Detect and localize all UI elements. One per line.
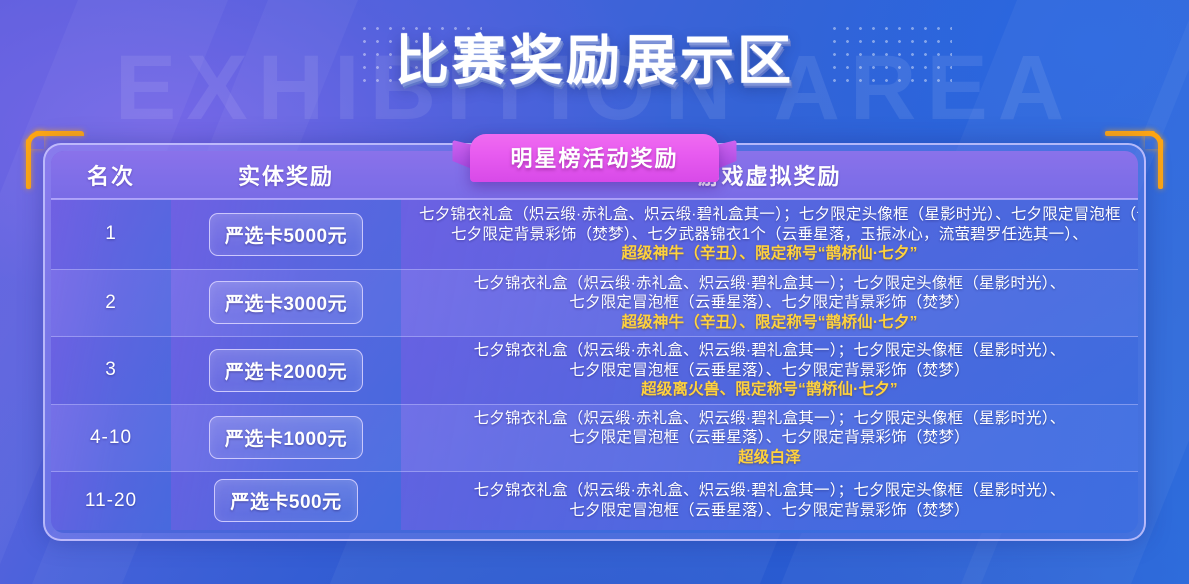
virtual-reward-highlight-line: 超级离火兽、限定称号“鹊桥仙·七夕” (419, 380, 1120, 400)
table-row: 1严选卡5000元七夕锦衣礼盒（炽云缎·赤礼盒、炽云缎·碧礼盒其一）；七夕限定头… (51, 199, 1138, 269)
badge-container: 明星榜活动奖励 (0, 134, 1189, 182)
reward-panel-inner: 名次 实体奖励 游戏虚拟奖励 1严选卡5000元七夕锦衣礼盒（炽云缎·赤礼盒、炽… (51, 151, 1138, 533)
rank-cell: 3 (51, 337, 171, 405)
virtual-reward-line: 七夕锦衣礼盒（炽云缎·赤礼盒、炽云缎·碧礼盒其一）；七夕限定头像框（星影时光）、 (419, 274, 1120, 294)
reward-table-body: 1严选卡5000元七夕锦衣礼盒（炽云缎·赤礼盒、炽云缎·碧礼盒其一）；七夕限定头… (51, 199, 1138, 530)
physical-reward-pill[interactable]: 严选卡3000元 (209, 281, 363, 324)
virtual-reward-cell: 七夕锦衣礼盒（炽云缎·赤礼盒、炽云缎·碧礼盒其一）；七夕限定头像框（星影时光）、… (401, 337, 1138, 405)
virtual-reward-line: 七夕限定冒泡框（云垂星落）、七夕限定背景彩饰（焚梦） (419, 361, 1120, 381)
virtual-reward-cell: 七夕锦衣礼盒（炽云缎·赤礼盒、炽云缎·碧礼盒其一）；七夕限定头像框（星影时光）、… (401, 472, 1138, 530)
physical-reward-pill[interactable]: 严选卡5000元 (209, 213, 363, 256)
virtual-reward-line: 七夕锦衣礼盒（炽云缎·赤礼盒、炽云缎·碧礼盒其一）；七夕限定头像框（星影时光）、 (419, 341, 1120, 361)
virtual-reward-line: 七夕限定背景彩饰（焚梦）、七夕武器锦衣1个（云垂星落，玉振冰心，流萤碧罗任选其一… (419, 225, 1120, 245)
rank-cell: 2 (51, 269, 171, 337)
physical-reward-pill[interactable]: 严选卡2000元 (209, 349, 363, 392)
table-row: 2严选卡3000元七夕锦衣礼盒（炽云缎·赤礼盒、炽云缎·碧礼盒其一）；七夕限定头… (51, 269, 1138, 337)
virtual-reward-line: 七夕限定冒泡框（云垂星落）、七夕限定背景彩饰（焚梦） (419, 501, 1120, 521)
virtual-reward-highlight-line: 超级白泽 (419, 448, 1120, 468)
physical-reward-cell: 严选卡5000元 (171, 199, 401, 269)
physical-reward-pill[interactable]: 严选卡1000元 (209, 416, 363, 459)
virtual-reward-line: 七夕锦衣礼盒（炽云缎·赤礼盒、炽云缎·碧礼盒其一）；七夕限定头像框（星影时光）、… (419, 205, 1120, 225)
virtual-reward-line: 七夕锦衣礼盒（炽云缎·赤礼盒、炽云缎·碧礼盒其一）；七夕限定头像框（星影时光）、 (419, 409, 1120, 429)
physical-reward-cell: 严选卡2000元 (171, 337, 401, 405)
physical-reward-cell: 严选卡1000元 (171, 404, 401, 472)
rank-value: 2 (105, 292, 117, 313)
physical-reward-pill[interactable]: 严选卡500元 (214, 479, 357, 522)
rank-value: 4-10 (90, 427, 132, 448)
reward-table: 名次 实体奖励 游戏虚拟奖励 1严选卡5000元七夕锦衣礼盒（炽云缎·赤礼盒、炽… (51, 151, 1138, 530)
rank-value: 1 (105, 223, 117, 244)
rank-value: 3 (105, 359, 117, 380)
activity-badge: 明星榜活动奖励 (470, 134, 718, 182)
rank-value: 11-20 (85, 490, 137, 511)
page-title: 比赛奖励展示区 (0, 16, 1189, 95)
reward-panel: 名次 实体奖励 游戏虚拟奖励 1严选卡5000元七夕锦衣礼盒（炽云缎·赤礼盒、炽… (43, 143, 1146, 541)
virtual-reward-highlight-line: 超级神牛（辛丑）、限定称号“鹊桥仙·七夕” (419, 244, 1120, 264)
virtual-reward-line: 七夕限定冒泡框（云垂星落）、七夕限定背景彩饰（焚梦） (419, 428, 1120, 448)
table-row: 11-20严选卡500元七夕锦衣礼盒（炽云缎·赤礼盒、炽云缎·碧礼盒其一）；七夕… (51, 472, 1138, 530)
virtual-reward-cell: 七夕锦衣礼盒（炽云缎·赤礼盒、炽云缎·碧礼盒其一）；七夕限定头像框（星影时光）、… (401, 199, 1138, 269)
virtual-reward-line: 七夕限定冒泡框（云垂星落）、七夕限定背景彩饰（焚梦） (419, 293, 1120, 313)
virtual-reward-cell: 七夕锦衣礼盒（炽云缎·赤礼盒、炽云缎·碧礼盒其一）；七夕限定头像框（星影时光）、… (401, 404, 1138, 472)
physical-reward-cell: 严选卡3000元 (171, 269, 401, 337)
rank-cell: 4-10 (51, 404, 171, 472)
virtual-reward-line: 七夕锦衣礼盒（炽云缎·赤礼盒、炽云缎·碧礼盒其一）；七夕限定头像框（星影时光）、 (419, 481, 1120, 501)
virtual-reward-highlight-line: 超级神牛（辛丑）、限定称号“鹊桥仙·七夕” (419, 313, 1120, 333)
table-row: 4-10严选卡1000元七夕锦衣礼盒（炽云缎·赤礼盒、炽云缎·碧礼盒其一）；七夕… (51, 404, 1138, 472)
rank-cell: 1 (51, 199, 171, 269)
virtual-reward-cell: 七夕锦衣礼盒（炽云缎·赤礼盒、炽云缎·碧礼盒其一）；七夕限定头像框（星影时光）、… (401, 269, 1138, 337)
rank-cell: 11-20 (51, 472, 171, 530)
table-row: 3严选卡2000元七夕锦衣礼盒（炽云缎·赤礼盒、炽云缎·碧礼盒其一）；七夕限定头… (51, 337, 1138, 405)
physical-reward-cell: 严选卡500元 (171, 472, 401, 530)
